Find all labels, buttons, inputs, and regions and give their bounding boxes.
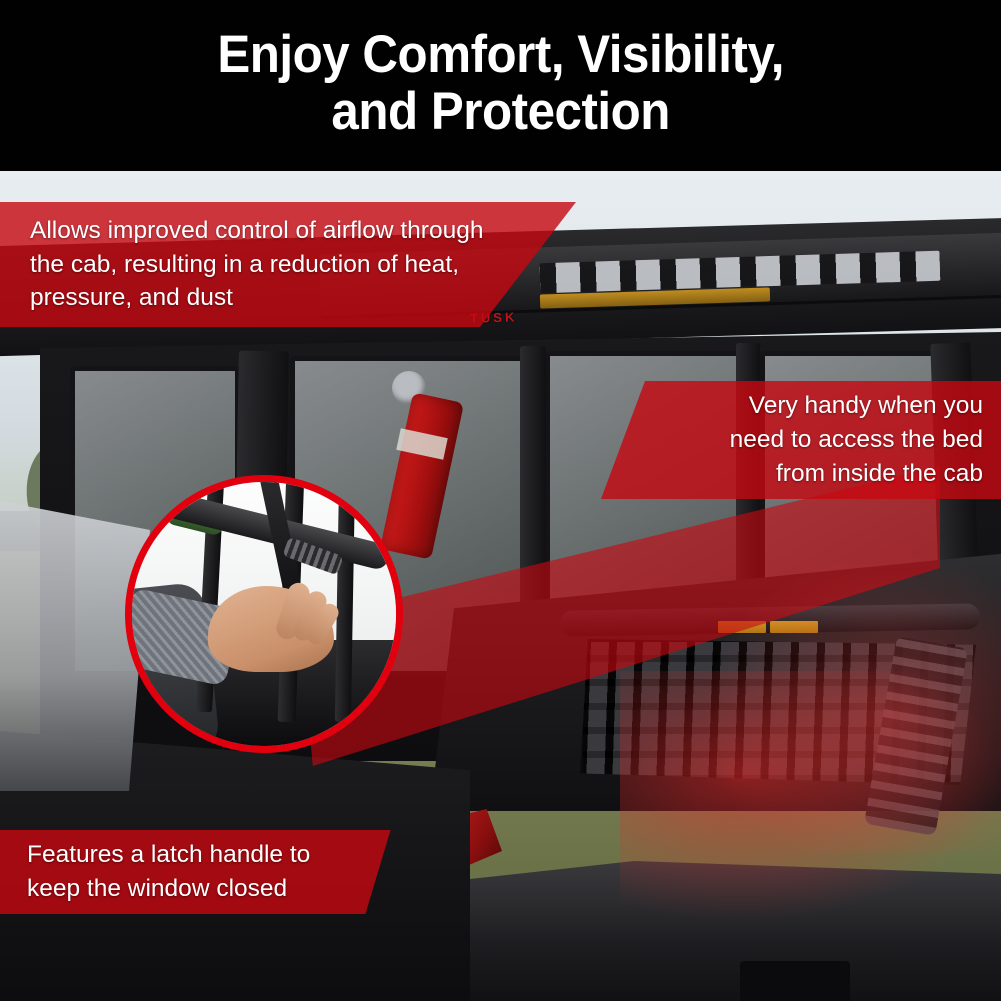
product-feature-banner: Enjoy Comfort, Visibility, and Protectio…	[0, 0, 1001, 1001]
header-banner: Enjoy Comfort, Visibility, and Protectio…	[0, 0, 1001, 171]
warning-sticker-2	[770, 621, 818, 633]
callout-latch-handle: Features a latch handle to keep the wind…	[0, 830, 420, 914]
magnifier-circle-inset	[125, 475, 403, 753]
rear-bumper	[430, 861, 1001, 1001]
callout-bed-access: Very handy when you need to access the b…	[601, 381, 1001, 499]
product-photo: TUSK	[0, 171, 1001, 1001]
page-title: Enjoy Comfort, Visibility, and Protectio…	[217, 27, 784, 144]
callout-latch-handle-text: Features a latch handle to keep the wind…	[27, 838, 420, 906]
door-panel	[0, 501, 150, 791]
magnifier-content	[132, 482, 396, 746]
callout-bed-access-text: Very handy when you need to access the b…	[730, 389, 983, 490]
license-plate-area	[740, 961, 850, 1001]
warning-sticker-1	[718, 621, 766, 633]
